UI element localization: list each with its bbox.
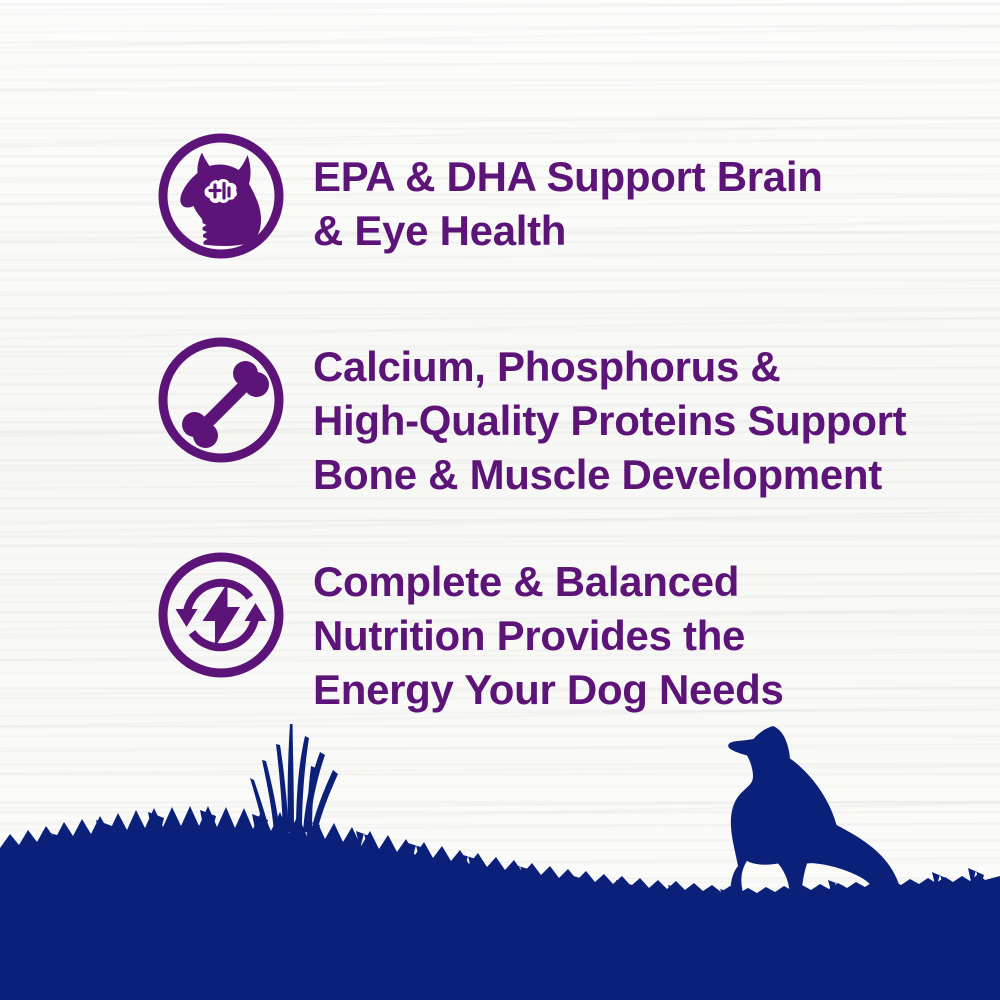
feature-item-bone-muscle: Calcium, Phosphorus & High-Quality Prote… [153,332,906,502]
dog-head-brain-icon [153,128,289,264]
scenery-silhouette [0,700,1000,1000]
feature-text-brain-eye-health: EPA & DHA Support Brain & Eye Health [313,128,823,258]
tall-grass-tuft [250,724,338,832]
feature-text-energy-nutrition: Complete & Balanced Nutrition Provides t… [313,547,784,717]
bone-icon [153,332,289,468]
feature-text-bone-muscle: Calcium, Phosphorus & High-Quality Prote… [313,332,906,502]
feature-item-brain-eye-health: EPA & DHA Support Brain & Eye Health [153,128,823,264]
energy-cycle-icon [153,547,289,683]
feature-item-energy-nutrition: Complete & Balanced Nutrition Provides t… [153,547,784,717]
promo-graphic: EPA & DHA Support Brain & Eye Health [0,0,1000,1000]
